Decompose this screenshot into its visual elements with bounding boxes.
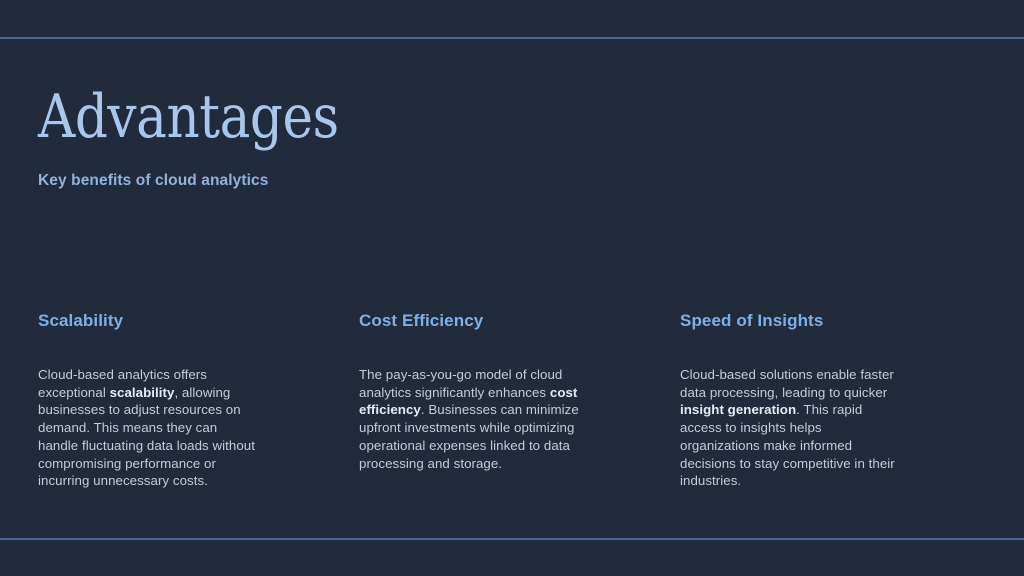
bottom-divider-rule <box>0 538 1024 540</box>
page-title: Advantages <box>38 84 812 150</box>
content-column: Speed of Insights Cloud-based solutions … <box>680 310 901 490</box>
title-block: Advantages Key benefits of cloud analyti… <box>38 84 938 190</box>
content-column: Scalability Cloud-based analytics offers… <box>38 310 259 490</box>
top-divider-rule <box>0 37 1024 39</box>
column-body: The pay-as-you-go model of cloud analyti… <box>359 332 580 472</box>
column-heading: Cost Efficiency <box>359 310 580 332</box>
column-body: Cloud-based analytics offers exceptional… <box>38 332 259 490</box>
slide-canvas: Advantages Key benefits of cloud analyti… <box>0 0 1024 576</box>
content-column: Cost Efficiency The pay-as-you-go model … <box>359 310 580 472</box>
column-heading: Scalability <box>38 310 259 332</box>
column-body: Cloud-based solutions enable faster data… <box>680 332 901 490</box>
column-heading: Speed of Insights <box>680 310 901 332</box>
content-columns: Scalability Cloud-based analytics offers… <box>38 310 982 490</box>
page-subtitle: Key benefits of cloud analytics <box>38 150 938 190</box>
